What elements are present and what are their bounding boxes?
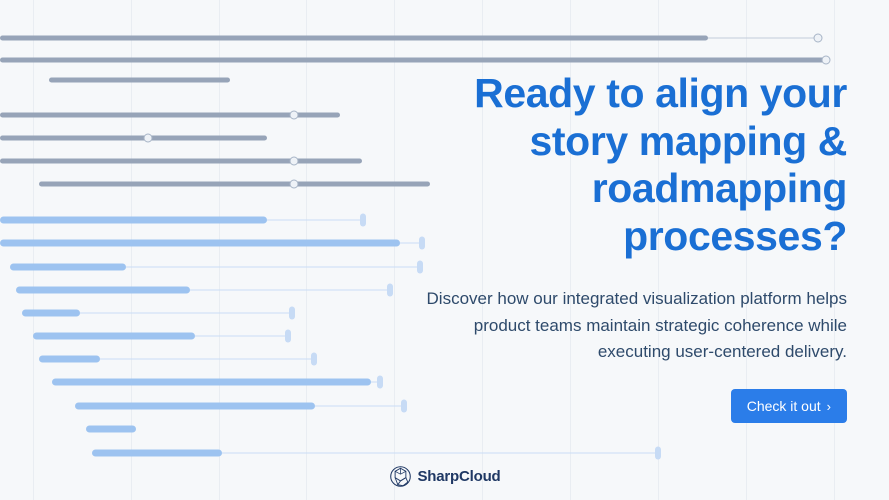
promo-content: Ready to align your story mapping & road… (417, 70, 847, 423)
gantt-bar[interactable] (0, 217, 267, 224)
gantt-connector (100, 359, 312, 360)
gantt-end-marker[interactable] (311, 353, 317, 366)
gantt-bar[interactable] (86, 426, 136, 433)
gantt-bar[interactable] (0, 36, 708, 41)
gantt-bar[interactable] (49, 78, 230, 83)
check-it-out-button[interactable]: Check it out › (731, 389, 847, 423)
gantt-end-marker[interactable] (655, 447, 661, 460)
gantt-end-marker[interactable] (387, 284, 393, 297)
cta-container: Check it out › (417, 389, 847, 423)
gantt-connector (315, 406, 402, 407)
sharpcloud-polyhedron-icon (389, 465, 412, 488)
gantt-bar[interactable] (16, 287, 190, 294)
gantt-connector (126, 267, 418, 268)
milestone-dot-icon[interactable] (144, 134, 153, 143)
promo-description: Discover how our integrated visualizatio… (417, 286, 847, 365)
gantt-row (0, 422, 889, 436)
gantt-connector (222, 453, 656, 454)
promo-banner: Ready to align your story mapping & road… (0, 0, 889, 500)
gantt-end-marker[interactable] (401, 400, 407, 413)
gantt-connector (195, 336, 286, 337)
gantt-connector (267, 220, 362, 221)
gantt-connector (80, 313, 290, 314)
gantt-bar[interactable] (75, 403, 315, 410)
gantt-bar[interactable] (0, 240, 400, 247)
sharpcloud-wordmark: SharpCloud (418, 468, 501, 485)
gantt-bar[interactable] (92, 450, 222, 457)
chevron-right-icon: › (827, 400, 831, 413)
gantt-end-marker[interactable] (285, 330, 291, 343)
gantt-bar[interactable] (39, 182, 430, 187)
milestone-dot-icon[interactable] (290, 157, 299, 166)
gantt-bar[interactable] (10, 264, 126, 271)
gantt-row (0, 446, 889, 460)
gantt-connector (708, 38, 822, 39)
gantt-bar[interactable] (39, 356, 100, 363)
gantt-row (0, 31, 889, 45)
gantt-bar[interactable] (0, 58, 830, 63)
gantt-bar[interactable] (22, 310, 80, 317)
milestone-dot-icon[interactable] (814, 34, 823, 43)
gantt-row (0, 53, 889, 67)
sharpcloud-logo: SharpCloud (389, 465, 501, 488)
gantt-bar[interactable] (52, 379, 371, 386)
gantt-end-marker[interactable] (289, 307, 295, 320)
gantt-end-marker[interactable] (360, 214, 366, 227)
gantt-end-marker[interactable] (377, 376, 383, 389)
cta-label: Check it out (747, 398, 821, 414)
gantt-bar[interactable] (0, 136, 267, 141)
gantt-bar[interactable] (0, 159, 362, 164)
milestone-dot-icon[interactable] (290, 111, 299, 120)
milestone-dot-icon[interactable] (290, 180, 299, 189)
milestone-dot-icon[interactable] (822, 56, 831, 65)
page-title: Ready to align your story mapping & road… (417, 70, 847, 260)
gantt-connector (190, 290, 388, 291)
gantt-bar[interactable] (33, 333, 195, 340)
